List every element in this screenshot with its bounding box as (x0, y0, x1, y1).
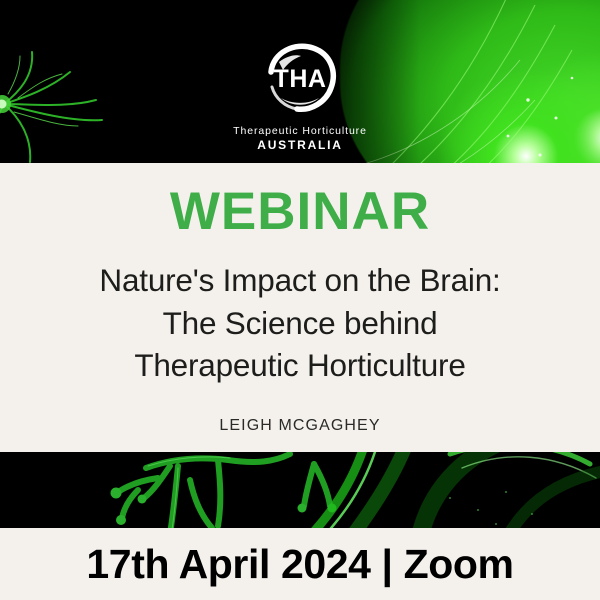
title-line-2: The Science behind (0, 302, 600, 345)
green-light-streaks-illustration (300, 452, 600, 528)
title-line-1: Nature's Impact on the Brain: (0, 259, 600, 302)
date-platform-text: 17th April 2024 | Zoom (86, 541, 513, 588)
date-details-bar: 17th April 2024 | Zoom (0, 528, 600, 600)
title-line-3: Therapeutic Horticulture (0, 344, 600, 387)
webinar-title: Nature's Impact on the Brain: The Scienc… (0, 259, 600, 387)
tha-logo-icon: THA (257, 40, 343, 120)
logo-country: AUSTRALIA (0, 138, 600, 152)
webinar-kicker: WEBINAR (0, 185, 600, 238)
svg-text:THA: THA (274, 65, 327, 93)
logo-tagline: Therapeutic Horticulture (0, 125, 600, 137)
lower-image-band (0, 452, 600, 528)
speaker-name: LEIGH MCGAGHEY (0, 417, 600, 435)
webinar-promo-poster: THA Therapeutic Horticulture AUSTRALIA W… (0, 0, 600, 600)
top-hero-band: THA Therapeutic Horticulture AUSTRALIA (0, 0, 600, 163)
tha-logo-lockup: THA Therapeutic Horticulture AUSTRALIA (0, 40, 600, 152)
main-content-panel: WEBINAR Nature's Impact on the Brain: Th… (0, 163, 600, 452)
